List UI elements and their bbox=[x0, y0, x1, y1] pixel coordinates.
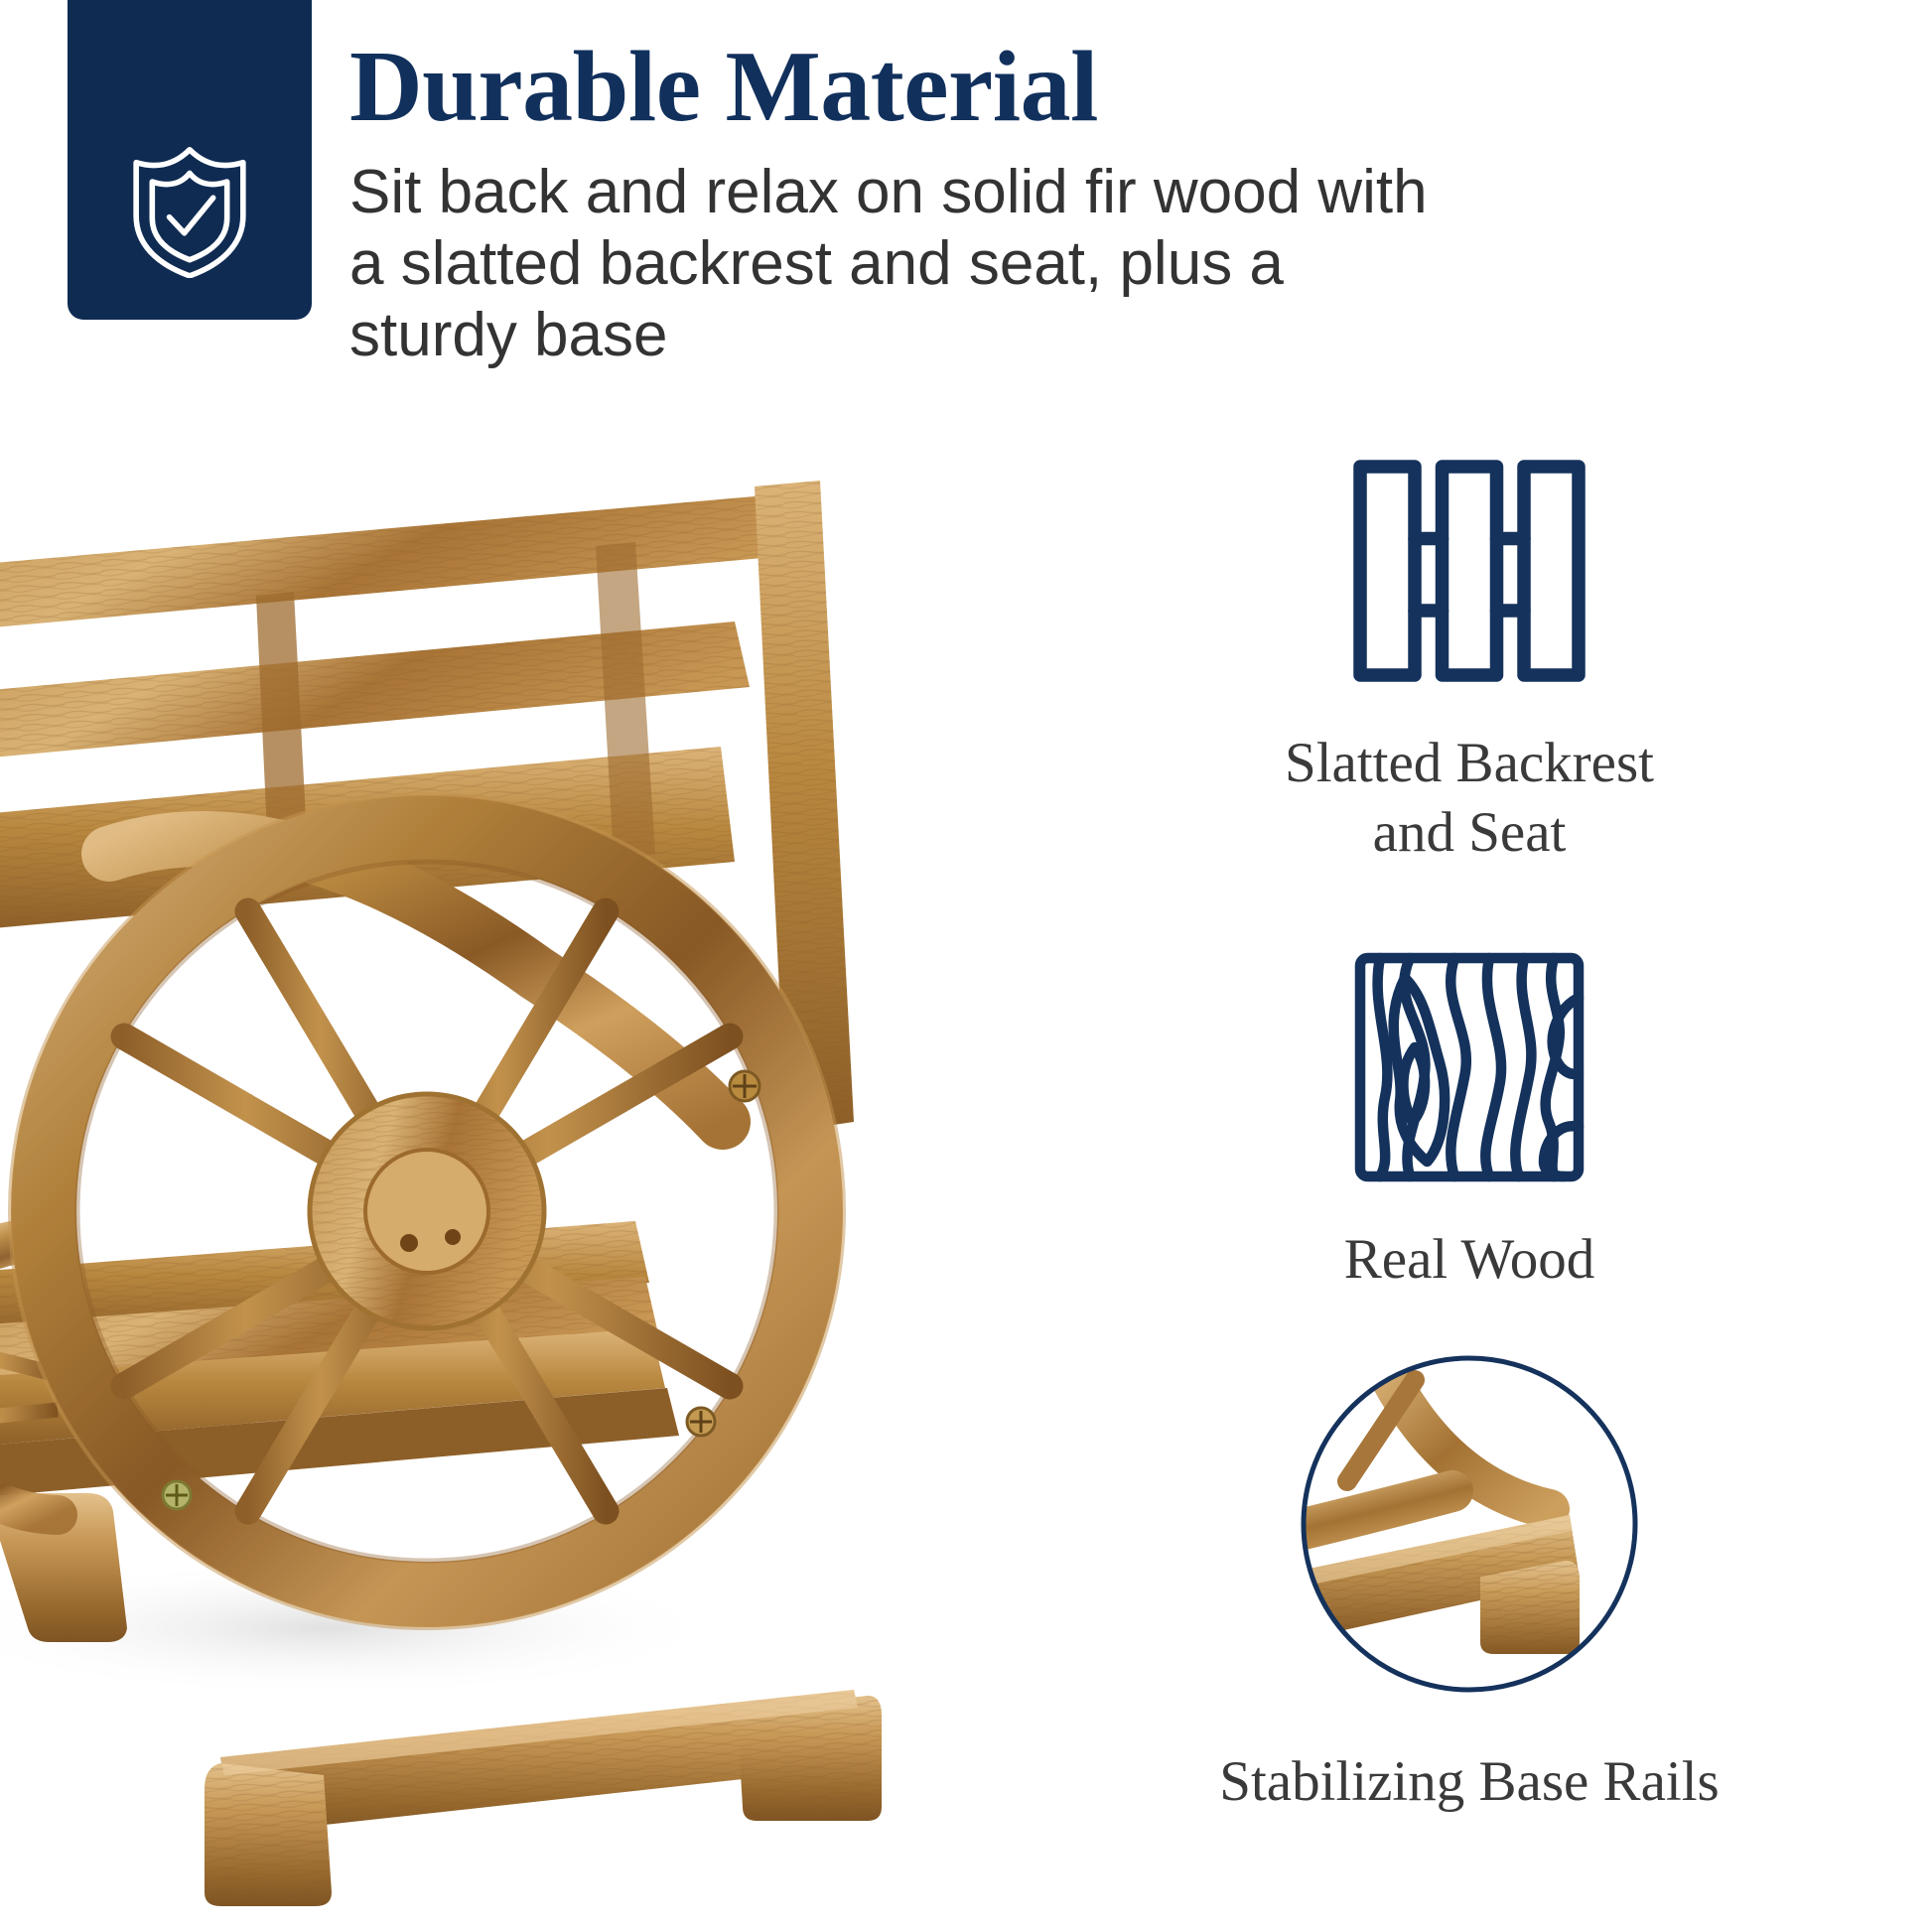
base-rail-photo-circle-icon bbox=[1286, 1340, 1653, 1708]
shield-check-icon bbox=[125, 139, 254, 278]
page-title: Durable Material bbox=[349, 36, 1521, 139]
feature-real-wood: Real Wood bbox=[1033, 943, 1906, 1295]
feature-list: Slatted Backrest and Seat Real Wood bbox=[1033, 447, 1906, 1916]
header-text-block: Durable Material Sit back and relax on s… bbox=[349, 36, 1521, 371]
header: Durable Material Sit back and relax on s… bbox=[0, 0, 1932, 397]
feature-label: Real Wood bbox=[1344, 1225, 1594, 1295]
slatted-planks-icon bbox=[1345, 447, 1593, 695]
feature-label: Slatted Backrest and Seat bbox=[1285, 729, 1654, 867]
product-photo bbox=[0, 427, 1003, 1932]
wood-grain-icon bbox=[1345, 943, 1593, 1191]
feature-label: Stabilizing Base Rails bbox=[1219, 1747, 1719, 1817]
feature-base-rails: Stabilizing Base Rails bbox=[1033, 1340, 1906, 1817]
page-subtitle: Sit back and relax on solid fir wood wit… bbox=[349, 157, 1442, 371]
durability-badge bbox=[68, 0, 312, 320]
feature-slatted-backrest: Slatted Backrest and Seat bbox=[1033, 447, 1906, 867]
